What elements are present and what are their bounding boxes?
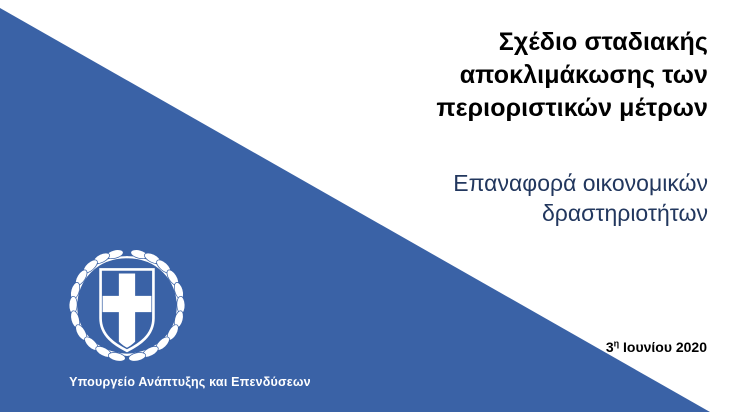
ministry-caption: Υπουργείο Ανάπτυξης και Επενδύσεων bbox=[0, 374, 380, 391]
date-day: 3 bbox=[606, 339, 614, 355]
subtitle-line-2: δραστηριοτήτων bbox=[268, 198, 708, 228]
presentation-title-slide: Σχέδιο σταδιακής αποκλιμάκωσης των περιο… bbox=[0, 0, 733, 412]
title-line-3: περιοριστικών μέτρων bbox=[278, 92, 708, 125]
greek-coat-of-arms-icon bbox=[66, 243, 188, 365]
date-rest: Ιουνίου 2020 bbox=[619, 339, 707, 355]
slide-date: 3η Ιουνίου 2020 bbox=[606, 338, 707, 356]
page-title: Σχέδιο σταδιακής αποκλιμάκωσης των περιο… bbox=[278, 26, 708, 125]
title-line-1: Σχέδιο σταδιακής bbox=[278, 26, 708, 59]
subtitle-line-1: Επαναφορά οικονομικών bbox=[268, 168, 708, 198]
title-line-2: αποκλιμάκωσης των bbox=[278, 59, 708, 92]
page-subtitle: Επαναφορά οικονομικών δραστηριοτήτων bbox=[268, 168, 708, 228]
